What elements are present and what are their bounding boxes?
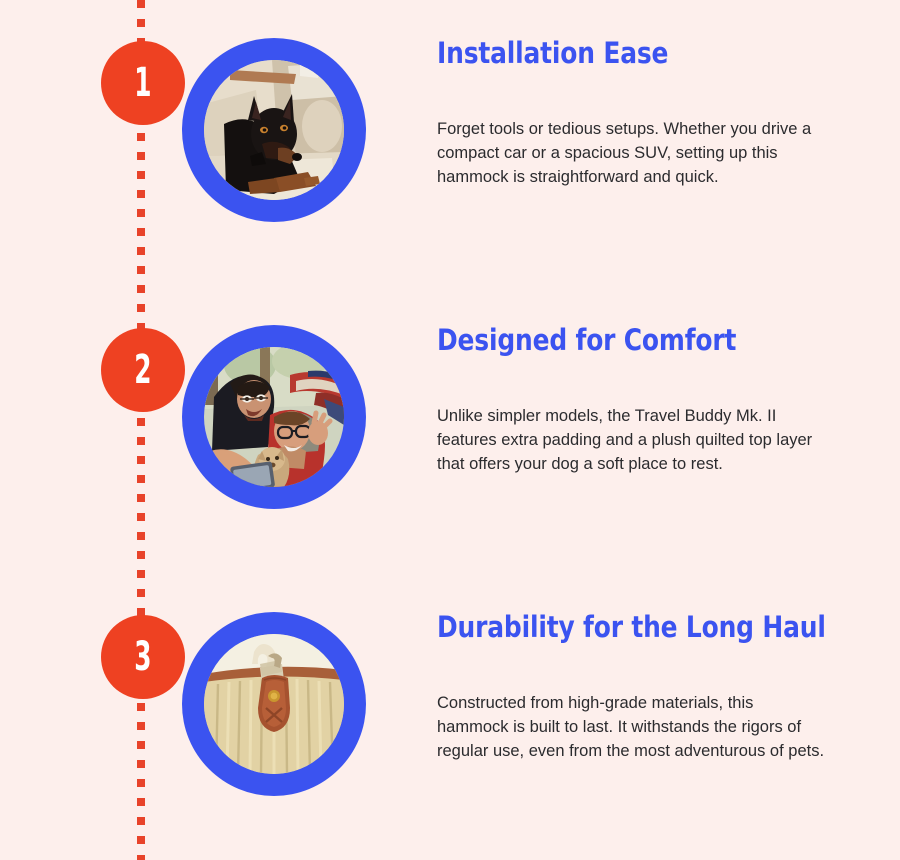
step-body-3: Constructed from high-grade materials, t… (437, 642, 829, 763)
step-number-label: 1 (134, 63, 151, 103)
step-title-2: Designed for Comfort (437, 325, 781, 355)
step-text-2: Designed for Comfort Unlike simpler mode… (437, 325, 837, 476)
quilted-hammock-strap-illustration (204, 634, 344, 774)
step-text-1: Installation Ease Forget tools or tediou… (437, 38, 837, 189)
doberman-car-seat-illustration (204, 60, 344, 200)
step-photo-ring-2 (182, 325, 366, 509)
step-number-label: 2 (134, 350, 151, 390)
step-number-badge-1: 1 (101, 41, 185, 125)
step-body-2: Unlike simpler models, the Travel Buddy … (437, 355, 829, 476)
step-text-3: Durability for the Long Haul Constructed… (437, 612, 837, 763)
step-photo-1 (204, 60, 344, 200)
step-photo-2 (204, 347, 344, 487)
step-number-badge-2: 2 (101, 328, 185, 412)
step-number-label: 3 (134, 637, 151, 677)
step-photo-ring-1 (182, 38, 366, 222)
couple-selfie-with-dog-illustration (204, 347, 344, 487)
step-title-3: Durability for the Long Haul (437, 612, 781, 642)
step-photo-ring-3 (182, 612, 366, 796)
step-number-badge-3: 3 (101, 615, 185, 699)
timeline-dotted-line (137, 0, 145, 860)
step-body-1: Forget tools or tedious setups. Whether … (437, 68, 829, 189)
step-title-1: Installation Ease (437, 38, 781, 68)
step-photo-3 (204, 634, 344, 774)
